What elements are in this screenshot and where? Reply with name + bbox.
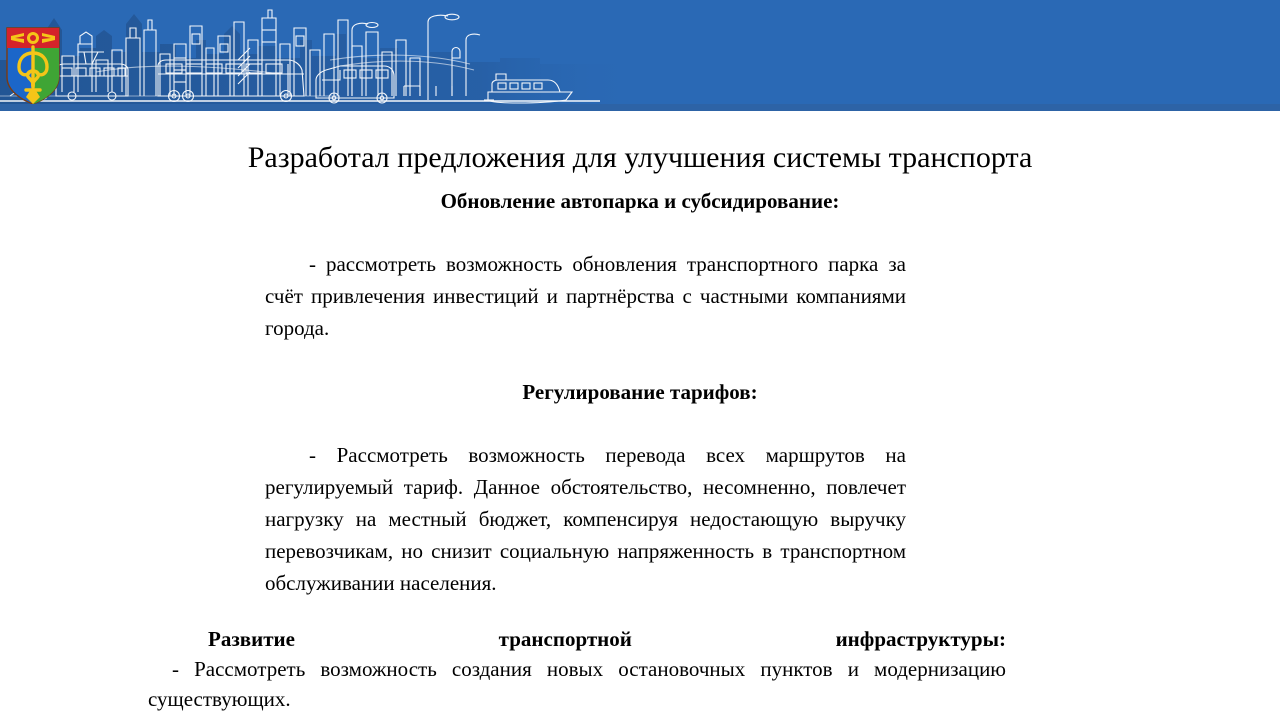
city-transport-line-art: [0, 0, 640, 111]
banner-bottom-stripe: [0, 104, 1280, 111]
section-heading-infrastructure: Развитие транспортной инфраструктуры:: [148, 624, 1006, 654]
section-body-tariff-regulation: - Рассмотреть возможность перевода всех …: [265, 439, 906, 599]
section-heading-tariff-regulation: Регулирование тарифов:: [0, 379, 1280, 405]
section-heading-fleet-renewal: Обновление автопарка и субсидирование:: [0, 188, 1280, 214]
spacer: [0, 405, 1280, 418]
slide-content: Обновление автопарка и субсидирование: -…: [0, 178, 1280, 714]
page-title: Разработал предложения для улучшения сис…: [0, 139, 1280, 177]
section-body-fleet-renewal: - рассмотреть возможность обновления тра…: [265, 248, 906, 344]
section-body-infrastructure: - Рассмотреть возможность создания новых…: [148, 654, 1006, 714]
spacer: [0, 214, 1280, 227]
section-infrastructure: Развитие транспортной инфраструктуры: - …: [148, 624, 1006, 714]
coat-of-arms-emblem: [6, 27, 60, 105]
header-banner: [0, 0, 1280, 111]
spacer: [0, 365, 1280, 379]
